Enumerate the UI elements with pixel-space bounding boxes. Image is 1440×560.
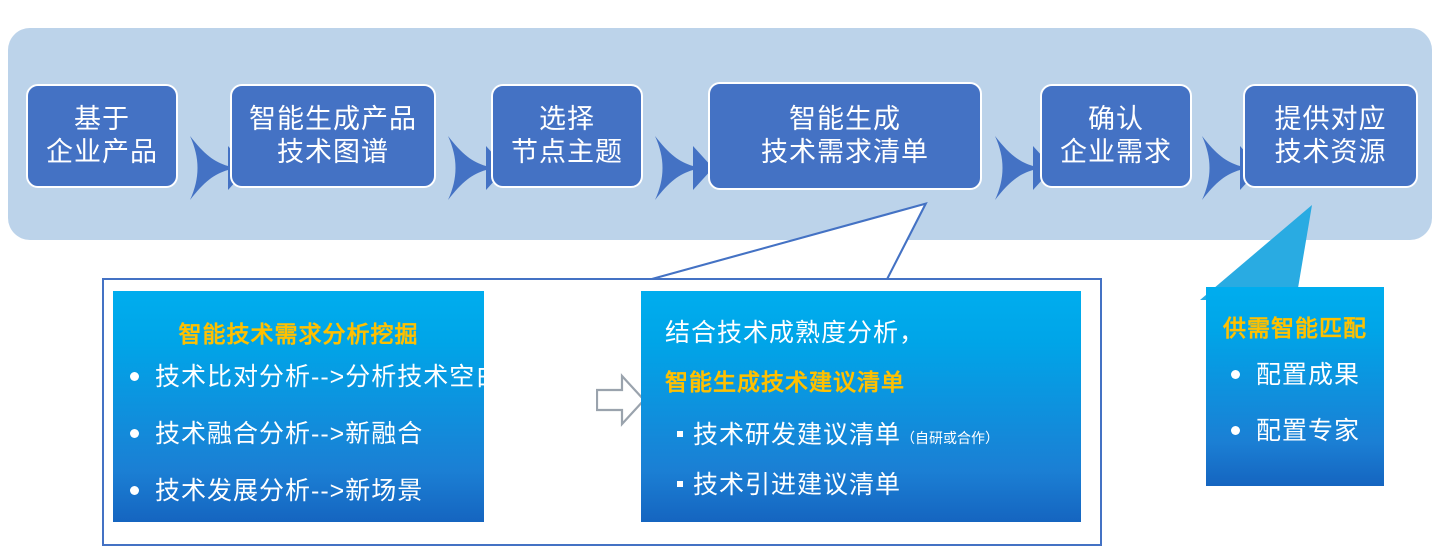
- flow-step-2-line-1: 智能生成产品: [249, 103, 417, 136]
- flow-step-6[interactable]: 提供对应 技术资源: [1243, 84, 1418, 188]
- flow-step-1[interactable]: 基于 企业产品: [26, 84, 178, 188]
- outline-right-arrow-icon: [596, 372, 646, 428]
- flow-step-6-line-2: 技术资源: [1275, 136, 1387, 169]
- list-item: 技术发展分析-->新场景: [130, 471, 501, 507]
- flow-step-4-line-1: 智能生成: [789, 103, 901, 136]
- flow-step-2-line-2: 技术图谱: [277, 136, 389, 169]
- list-item-label: 技术发展分析-->新场景: [155, 477, 423, 505]
- callout-tail-icon: [640, 196, 970, 288]
- square-bullet-icon: [677, 431, 683, 437]
- list-item: 配置成果: [1231, 355, 1360, 391]
- list-item-label: 配置成果: [1256, 361, 1360, 389]
- panel-demand-analysis: 智能技术需求分析挖掘 技术比对分析-->分析技术空白 技术融合分析-->新融合 …: [113, 291, 484, 522]
- panel-maturity-title: 智能生成技术建议清单: [665, 363, 999, 397]
- list-item-label: 技术研发建议清单: [693, 421, 901, 449]
- panel-maturity-intro: 结合技术成熟度分析，: [665, 313, 999, 349]
- flow-step-5-line-1: 确认: [1088, 103, 1144, 136]
- flow-step-6-line-1: 提供对应: [1275, 103, 1387, 136]
- list-item: 配置专家: [1231, 411, 1360, 447]
- flow-step-3[interactable]: 选择 节点主题: [491, 84, 643, 188]
- right-arrow-icon-3: [653, 132, 715, 204]
- list-item-label: 配置专家: [1256, 417, 1360, 445]
- panel-maturity-analysis: 结合技术成熟度分析， 智能生成技术建议清单 技术研发建议清单（自研或合作） 技术…: [641, 291, 1081, 522]
- list-item: 技术引进建议清单: [665, 465, 999, 501]
- bullet-icon: [1231, 370, 1240, 379]
- flow-step-5[interactable]: 确认 企业需求: [1040, 84, 1192, 188]
- list-item: 技术融合分析-->新融合: [130, 414, 501, 450]
- panel-demand-title: 智能技术需求分析挖掘: [113, 315, 484, 349]
- panel-match-list: 配置成果 配置专家: [1231, 355, 1360, 467]
- flow-step-1-line-1: 基于: [74, 103, 130, 136]
- panel-match-title: 供需智能匹配: [1206, 309, 1384, 343]
- bullet-icon: [130, 372, 139, 381]
- panel-maturity-list: 结合技术成熟度分析， 智能生成技术建议清单 技术研发建议清单（自研或合作） 技术…: [665, 313, 999, 515]
- flow-step-4[interactable]: 智能生成 技术需求清单: [708, 82, 982, 190]
- flow-step-1-line-2: 企业产品: [46, 136, 158, 169]
- bullet-icon: [130, 486, 139, 495]
- list-item-label: 技术引进建议清单: [693, 471, 901, 499]
- flow-step-3-line-2: 节点主题: [511, 136, 623, 169]
- list-item-note: （自研或合作）: [901, 430, 999, 446]
- bullet-icon: [1231, 426, 1240, 435]
- square-bullet-icon: [677, 481, 683, 487]
- list-item: 技术研发建议清单（自研或合作）: [665, 415, 999, 451]
- flow-step-5-line-2: 企业需求: [1060, 136, 1172, 169]
- flow-step-4-line-2: 技术需求清单: [761, 136, 929, 169]
- list-item: 技术比对分析-->分析技术空白: [130, 357, 501, 393]
- bullet-icon: [130, 429, 139, 438]
- cyan-pointer-icon: [1200, 196, 1350, 301]
- list-item-label: 技术融合分析-->新融合: [155, 420, 423, 448]
- panel-demand-list: 技术比对分析-->分析技术空白 技术融合分析-->新融合 技术发展分析-->新场…: [130, 357, 501, 528]
- flow-step-2[interactable]: 智能生成产品 技术图谱: [230, 84, 436, 188]
- flow-step-3-line-1: 选择: [539, 103, 595, 136]
- list-item-label: 技术比对分析-->分析技术空白: [155, 363, 501, 391]
- panel-supply-demand-match: 供需智能匹配 配置成果 配置专家: [1206, 287, 1384, 486]
